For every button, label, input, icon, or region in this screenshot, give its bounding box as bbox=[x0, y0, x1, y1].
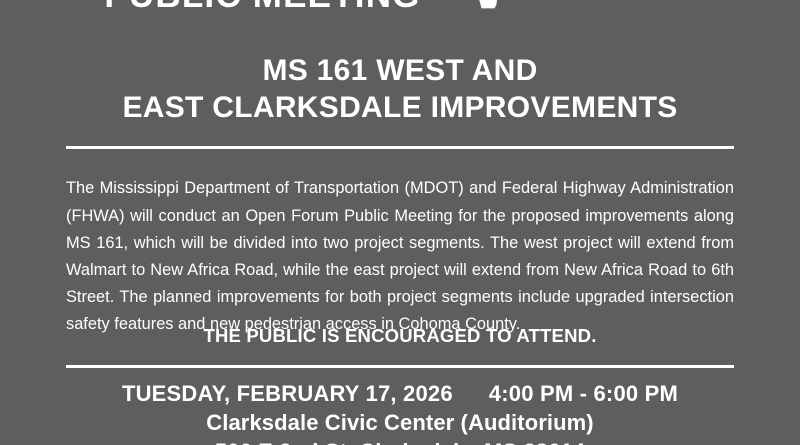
banner-title: PUBLIC MEETING bbox=[104, 0, 420, 16]
public-meeting-flyer: PUBLIC MEETING MISSISSIPPI DEPARTMENT OF… bbox=[0, 0, 800, 445]
page-title: MS 161 WEST AND EAST CLARKSDALE IMPROVEM… bbox=[0, 52, 800, 126]
body-paragraph: The Mississippi Department of Transporta… bbox=[66, 175, 734, 338]
page-title-line-2: EAST CLARKSDALE IMPROVEMENTS bbox=[0, 89, 800, 126]
mdot-logo: MISSISSIPPI DEPARTMENT OF TRANSPORTATION bbox=[475, 0, 696, 11]
divider-top bbox=[66, 146, 734, 149]
event-details: TUESDAY, FEBRUARY 17, 2026 4:00 PM - 6:0… bbox=[0, 380, 800, 445]
mdot-state-outline-icon bbox=[475, 0, 501, 11]
call-to-action-text: THE PUBLIC IS ENCOURAGED TO ATTEND. bbox=[0, 325, 800, 347]
event-date: TUESDAY, FEBRUARY 17, 2026 bbox=[122, 380, 453, 408]
page-title-line-1: MS 161 WEST AND bbox=[0, 52, 800, 89]
divider-bottom bbox=[66, 365, 734, 368]
event-address: 506 E 2nd St, Clarksdale, MS 38614 bbox=[0, 437, 800, 445]
event-time: 4:00 PM - 6:00 PM bbox=[489, 380, 678, 408]
event-venue: Clarksdale Civic Center (Auditorium) bbox=[0, 408, 800, 437]
banner-row: PUBLIC MEETING MISSISSIPPI DEPARTMENT OF… bbox=[0, 0, 800, 18]
event-date-time-row: TUESDAY, FEBRUARY 17, 2026 4:00 PM - 6:0… bbox=[0, 380, 800, 408]
